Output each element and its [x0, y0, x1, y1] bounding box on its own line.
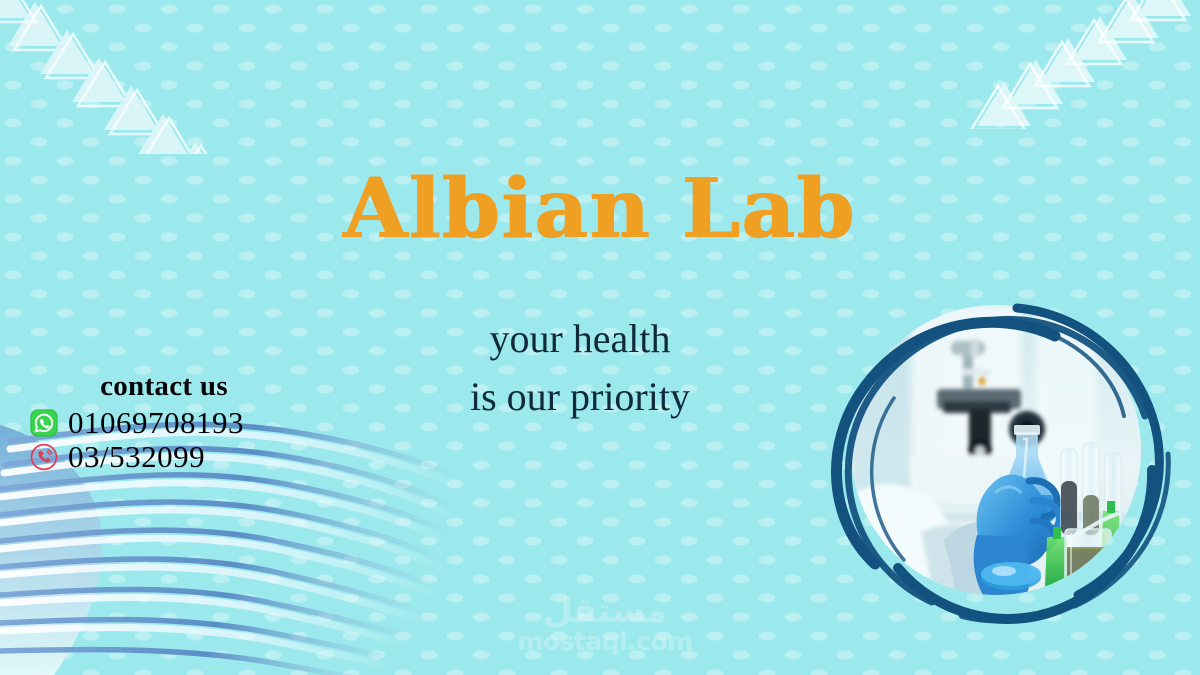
whatsapp-number[interactable]: 01069708193	[68, 407, 244, 440]
tagline: your health is our priority	[350, 310, 810, 426]
watermark: مستقل mostaql.com	[510, 594, 700, 660]
contact-heading: contact us	[30, 370, 290, 403]
laboratory-photo	[851, 305, 1141, 595]
watermark-arabic: مستقل	[510, 594, 700, 628]
brand-title-text: Albian Lab	[344, 161, 857, 257]
triangle-strip-top-left-icon	[0, 0, 230, 154]
whatsapp-icon[interactable]	[30, 409, 58, 437]
banner-root: Albian Lab your health is our priority	[0, 0, 1200, 675]
brand-title: Albian Lab	[0, 166, 1200, 252]
lab-photo-widget	[836, 290, 1156, 610]
phone-call-icon[interactable]	[30, 443, 58, 471]
triangle-strip-top-right-icon	[965, 0, 1200, 129]
tagline-line-2: is our priority	[350, 368, 810, 426]
tagline-line-1: your health	[489, 316, 670, 361]
contact-row-phone[interactable]: 03/532099	[30, 441, 290, 474]
phone-number[interactable]: 03/532099	[68, 441, 205, 474]
contact-row-whatsapp[interactable]: 01069708193	[30, 407, 290, 440]
lab-photo-circle	[851, 305, 1141, 595]
contact-block: contact us 01069708193 03/532099	[30, 370, 290, 474]
watermark-latin: mostaql.com	[510, 628, 700, 656]
